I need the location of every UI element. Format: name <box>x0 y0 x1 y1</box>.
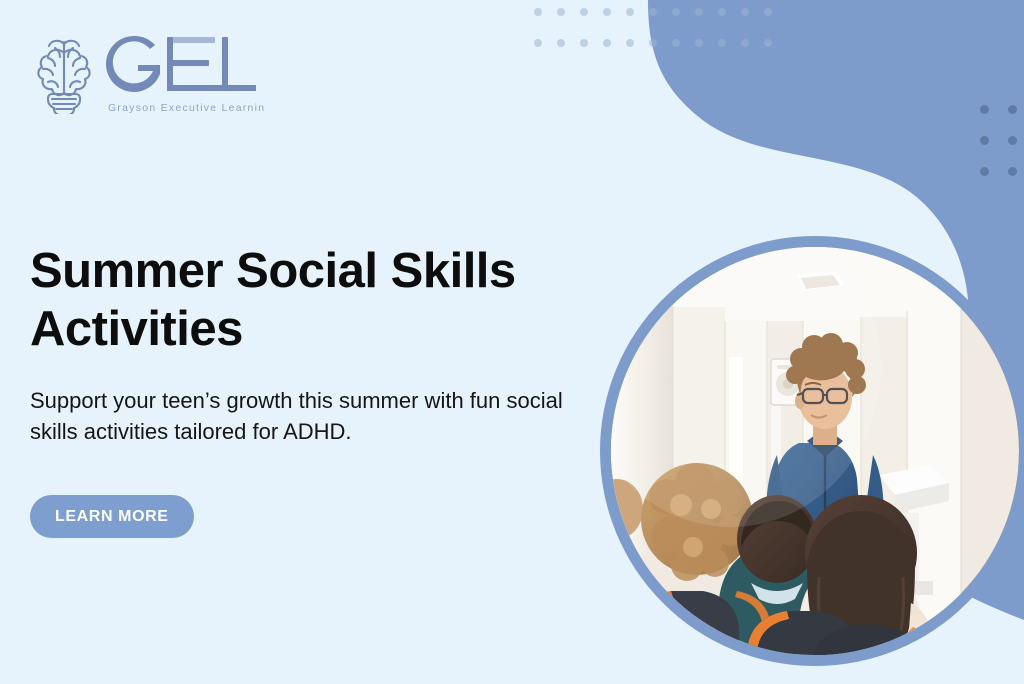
dot-grid-right <box>980 105 1024 198</box>
logo[interactable]: Grayson Executive Learning <box>24 22 264 114</box>
dot <box>649 39 657 47</box>
dot <box>557 8 565 16</box>
photo-ring <box>600 236 1024 666</box>
dot <box>764 39 772 47</box>
dot <box>603 39 611 47</box>
dot <box>649 8 657 16</box>
learn-more-button[interactable]: LEARN MORE <box>30 495 194 538</box>
page-title: Summer Social SkillsActivities <box>30 243 610 359</box>
dot-grid-top <box>534 8 787 70</box>
dot <box>580 8 588 16</box>
dot <box>980 105 989 114</box>
dot <box>1008 136 1017 145</box>
promo-banner: Grayson Executive Learning Summer Social… <box>0 0 1024 684</box>
seminar-photo <box>611 247 1019 655</box>
dot <box>718 39 726 47</box>
dot <box>741 39 749 47</box>
dot <box>718 8 726 16</box>
dot <box>764 8 772 16</box>
dot <box>980 167 989 176</box>
dot <box>557 39 565 47</box>
logo-wordmark <box>106 36 256 92</box>
brain-lightbulb-icon <box>38 41 89 114</box>
dot <box>534 39 542 47</box>
headline-line-1: Summer Social Skills <box>30 244 516 298</box>
dot <box>980 136 989 145</box>
logo-tagline: Grayson Executive Learning <box>108 102 264 114</box>
dot <box>603 8 611 16</box>
content-column: Summer Social SkillsActivities Support y… <box>30 243 610 538</box>
seminar-photo-illustration <box>611 247 1019 655</box>
subheadline: Support your teen’s growth this summer w… <box>30 385 605 447</box>
dot <box>672 39 680 47</box>
dot <box>626 8 634 16</box>
dot <box>1008 105 1017 114</box>
dot <box>741 8 749 16</box>
dot <box>534 8 542 16</box>
headline-line-2: Activities <box>30 302 243 356</box>
dot <box>695 39 703 47</box>
dot <box>580 39 588 47</box>
dot <box>695 8 703 16</box>
dot <box>1008 167 1017 176</box>
dot <box>672 8 680 16</box>
dot <box>626 39 634 47</box>
